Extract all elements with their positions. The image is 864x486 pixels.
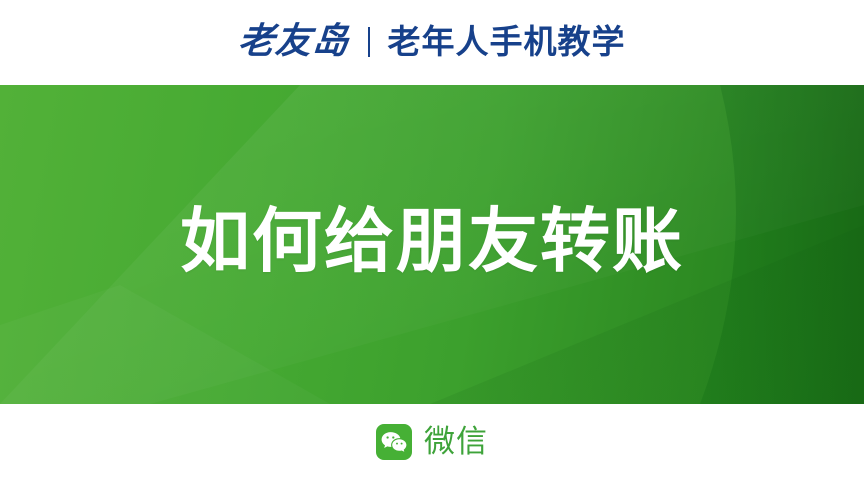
- wechat-icon: [376, 424, 412, 460]
- wechat-label: 微信: [424, 427, 488, 458]
- title-banner: 如何给朋友转账: [0, 85, 864, 404]
- slide-root: 老友岛 老年人手机教学: [0, 0, 864, 486]
- slide-header: 老友岛 老年人手机教学: [0, 0, 864, 85]
- app-lockup: 微信: [376, 424, 488, 460]
- slide-title: 如何给朋友转账: [180, 206, 684, 276]
- brand-lockup: 老友岛 老年人手机教学: [238, 24, 625, 60]
- wechat-bubbles-icon: [381, 431, 407, 453]
- slide-footer: 微信: [0, 404, 864, 486]
- brand-tagline-text: 老年人手机教学: [388, 25, 626, 58]
- brand-divider: [368, 27, 370, 57]
- brand-logo-text: 老友岛: [237, 24, 351, 60]
- banner-title-wrap: 如何给朋友转账: [0, 85, 864, 404]
